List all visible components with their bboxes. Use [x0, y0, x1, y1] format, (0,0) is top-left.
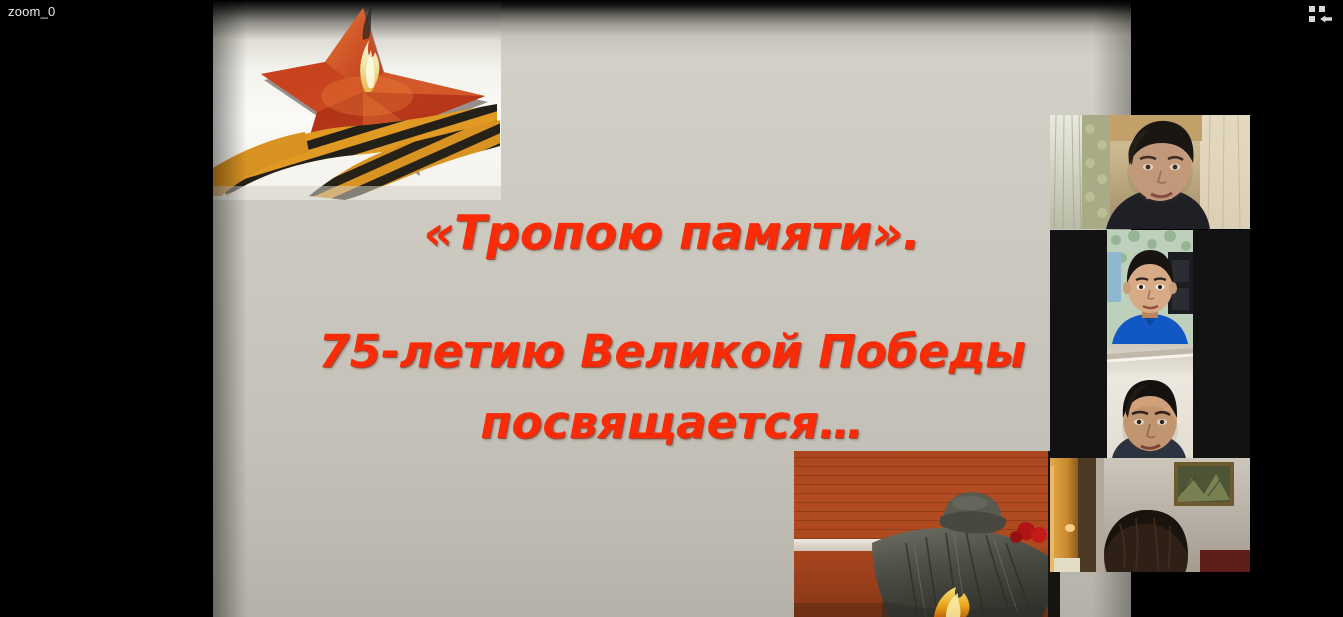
participant-video-1: [1050, 115, 1250, 229]
participant-tile-3[interactable]: [1050, 344, 1250, 458]
arrow-left-icon: [1319, 15, 1333, 23]
participant-video-4: [1050, 458, 1250, 572]
tomb-artwork: [794, 451, 1060, 617]
grid-square-top-right: [1319, 6, 1325, 12]
participant-tile-1[interactable]: [1050, 115, 1250, 229]
shared-screen-slide: «Тропою памяти». 75-летию Великой Победы…: [213, 0, 1131, 617]
participant-tile-2[interactable]: [1050, 230, 1250, 344]
grid-square-top-left: [1309, 6, 1315, 12]
participant-video-strip: [1050, 115, 1250, 575]
tomb-of-unknown-soldier-photo: [794, 451, 1060, 617]
participant-video-3: [1050, 344, 1250, 458]
grid-view-toggle-icon[interactable]: [1309, 5, 1335, 23]
grid-square-bottom-left: [1309, 16, 1315, 22]
victory-star-emblem: [213, 0, 501, 200]
emblem-artwork: [213, 0, 501, 200]
window-title-label: zoom_0: [8, 4, 55, 19]
participant-tile-4[interactable]: [1050, 458, 1250, 572]
zoom-meeting-window: zoom_0: [0, 0, 1343, 617]
participant-video-2: [1050, 230, 1250, 344]
